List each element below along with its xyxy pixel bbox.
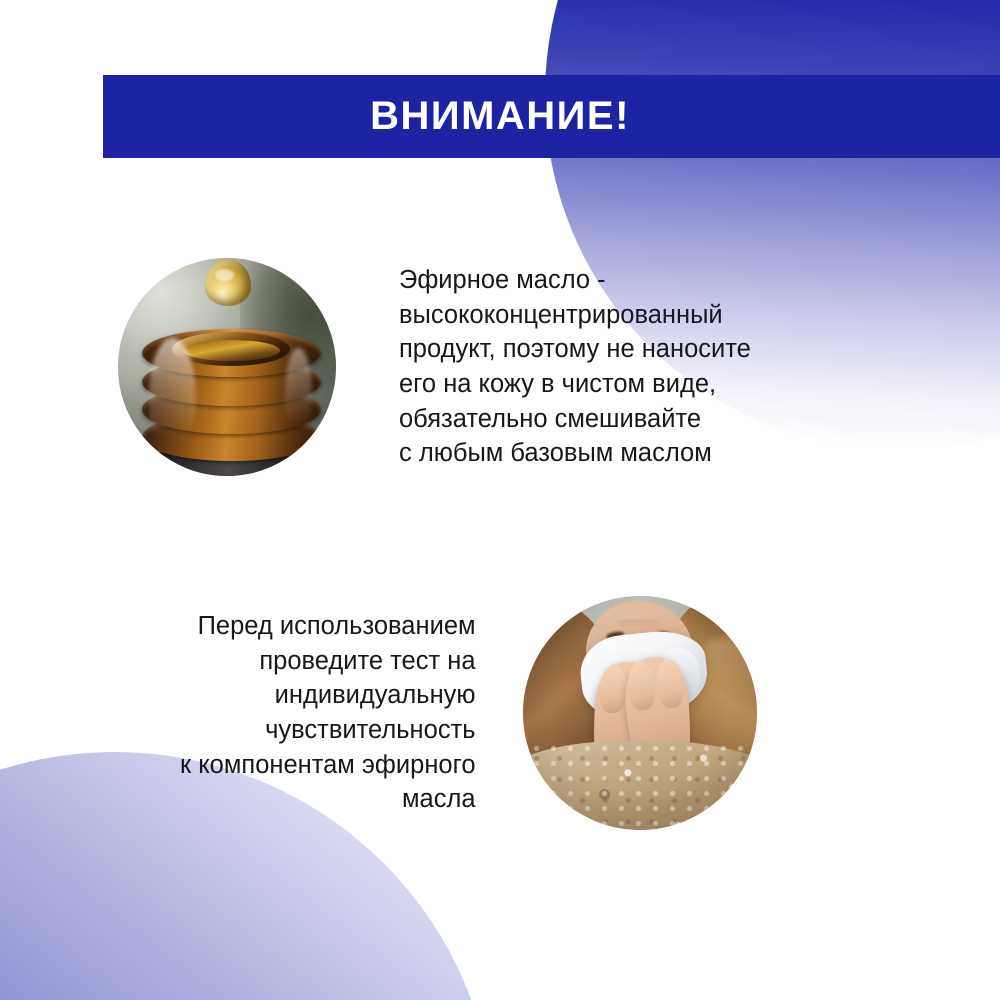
page-title: ВНИМАНИЕ! — [103, 75, 897, 158]
essential-oil-bottle-photo — [118, 258, 336, 476]
oil-warning-text: Эфирное масло - высококонцентрированный … — [399, 263, 751, 470]
warning-poster: ВНИМАНИЕ! Эфирное ма — [0, 0, 1000, 1000]
photo-vignette — [523, 596, 757, 830]
content-block-sensitivity-test: Перед использованием проведите тест на и… — [180, 596, 910, 830]
sneeze-photo-scene — [523, 596, 757, 830]
oil-photo-scene — [118, 258, 336, 476]
bottle-glare-left — [149, 338, 195, 454]
sensitivity-test-text: Перед использованием проведите тест на и… — [180, 609, 476, 816]
content-block-oil-warning: Эфирное масло - высококонцентрированный … — [118, 258, 878, 476]
amber-bottle-neck — [142, 326, 321, 476]
header-banner: ВНИМАНИЕ! — [103, 75, 1000, 158]
bottle-glare-right — [285, 348, 312, 442]
sneezing-woman-photo — [523, 596, 757, 830]
oil-droplet-icon — [205, 260, 251, 306]
